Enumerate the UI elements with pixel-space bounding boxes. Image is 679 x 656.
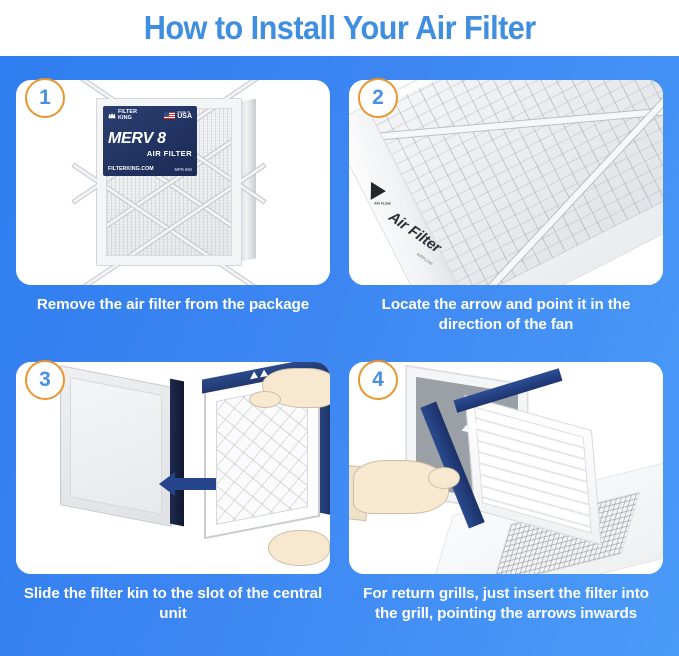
filter-corner-photo: AIR FLOW Air Filter AIRFLOW <box>349 80 663 285</box>
page-title: How to Install Your Air Filter <box>144 9 536 47</box>
brand-lockup: FILTER KING <box>108 110 137 121</box>
step-caption-3: Slide the filter kin to the slot of the … <box>16 584 330 624</box>
step-number-2: 2 <box>372 87 384 108</box>
step-badge-1: 1 <box>25 78 65 118</box>
step-badge-4: 4 <box>358 360 398 400</box>
step-number-4: 4 <box>372 369 384 390</box>
slide-filter-illustration <box>16 362 330 574</box>
product-label: FILTER KING MADE IN USA <box>103 106 197 176</box>
country-text: USA <box>177 113 192 120</box>
insertion-direction-arrow <box>174 478 216 490</box>
step-4-image <box>349 362 663 574</box>
slot-inner-panel <box>70 377 162 515</box>
step-card-2[interactable]: AIR FLOW Air Filter AIRFLOW 2 Locate the… <box>349 80 663 352</box>
hand-inserting-filter <box>353 460 449 514</box>
step-card-4[interactable]: 4 For return grills, just insert the fil… <box>349 362 663 640</box>
steps-grid: FILTER KING MADE IN USA <box>16 80 663 640</box>
step-card-3[interactable]: 3 Slide the filter kin to the slot of th… <box>16 362 330 640</box>
usa-flag-icon <box>164 112 175 119</box>
filter-side-edge <box>240 99 256 262</box>
angled-filter: AIR FLOW Air Filter AIRFLOW <box>349 80 663 285</box>
steps-panel: FILTER KING MADE IN USA <box>0 56 679 656</box>
step-badge-2: 2 <box>358 78 398 118</box>
website-text: FILTERKING.COM <box>108 166 154 172</box>
air-filter-product-photo: FILTER KING MADE IN USA <box>90 94 256 270</box>
hand-upper <box>262 368 330 408</box>
step-caption-1: Remove the air filter from the package <box>16 295 330 315</box>
step-3-image <box>16 362 330 574</box>
merv-rating: MERV 8 <box>108 130 192 148</box>
step-caption-2: Locate the arrow and point it in the dir… <box>349 295 663 335</box>
step-caption-4: For return grills, just insert the filte… <box>349 584 663 624</box>
brand-text: FILTER KING <box>118 110 137 121</box>
step-2-image: AIR FLOW Air Filter AIRFLOW <box>349 80 663 285</box>
airflow-arrow-label: AIR FLOW <box>374 201 391 205</box>
step-1-image: FILTER KING MADE IN USA <box>16 80 330 285</box>
hand-lower <box>268 530 330 566</box>
airflow-arrow-icon <box>371 182 386 200</box>
header: How to Install Your Air Filter <box>0 0 679 56</box>
filter-body: AIR FLOW Air Filter AIRFLOW <box>349 80 663 285</box>
crown-icon <box>108 112 116 119</box>
step-card-1[interactable]: FILTER KING MADE IN USA <box>16 80 330 352</box>
product-type: AIR FILTER <box>108 149 192 158</box>
grill-louvers <box>474 407 592 534</box>
step-number-3: 3 <box>39 369 51 390</box>
made-in-usa-lockup: MADE IN USA <box>164 111 192 121</box>
slot-opening <box>170 379 184 527</box>
return-grill-illustration <box>349 362 663 574</box>
label-top-row: FILTER KING MADE IN USA <box>108 109 192 122</box>
central-unit-slot <box>60 365 172 527</box>
mpr-rating: MPR 650 <box>175 167 192 172</box>
step-badge-3: 3 <box>25 360 65 400</box>
step-number-1: 1 <box>39 87 51 108</box>
label-bottom-row: FILTERKING.COM MPR 650 <box>108 166 192 172</box>
